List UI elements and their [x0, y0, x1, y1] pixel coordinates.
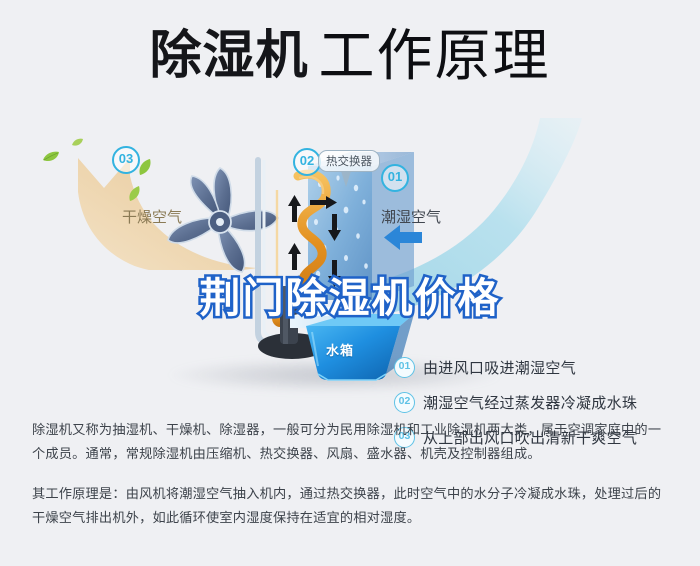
legend-item: 01 由进风口吸进潮湿空气 [394, 350, 684, 385]
label-dry-air: 干燥空气 [122, 206, 182, 227]
body-paragraph-1: 除湿机又称为抽湿机、干燥机、除湿器，一般可分为民用除湿机和工业除湿机两大类，属于… [32, 418, 672, 466]
legend-number: 02 [394, 392, 415, 413]
body-paragraph-2: 其工作原理是：由风机将潮湿空气抽入机内，通过热交换器，此时空气中的水分子冷凝成水… [32, 482, 672, 530]
leaf-icon [128, 186, 141, 207]
badge-03: 03 [112, 146, 140, 174]
label-moist-air: 潮湿空气 [381, 206, 441, 227]
page-title-part-2: 工作原理 [319, 24, 551, 87]
leaf-icon [138, 158, 152, 181]
page-title: 除湿机工作原理 [0, 26, 700, 86]
legend-text: 潮湿空气经过蒸发器冷凝成水珠 [423, 392, 637, 413]
leaf-icon [72, 134, 83, 152]
badge-02: 02 [293, 148, 321, 176]
label-water-tank: 水箱 [326, 340, 354, 359]
legend-text: 由进风口吸进潮湿空气 [423, 357, 576, 378]
dehumidifier-diagram: 01 02 03 潮湿空气 干燥空气 水箱 热交换器 01 由进风口吸进潮湿空气… [0, 108, 700, 393]
badge-01: 01 [381, 164, 409, 192]
callout-heat-exchanger: 热交换器 [318, 150, 380, 172]
legend-item: 02 潮湿空气经过蒸发器冷凝成水珠 [394, 385, 684, 420]
page-title-part-1: 除湿机 [149, 27, 308, 85]
infographic-page: 除湿机工作原理 [0, 0, 700, 566]
body-copy: 除湿机又称为抽湿机、干燥机、除湿器，一般可分为民用除湿机和工业除湿机两大类，属于… [32, 418, 672, 530]
leaf-icon [42, 150, 60, 168]
legend-number: 01 [394, 357, 415, 378]
